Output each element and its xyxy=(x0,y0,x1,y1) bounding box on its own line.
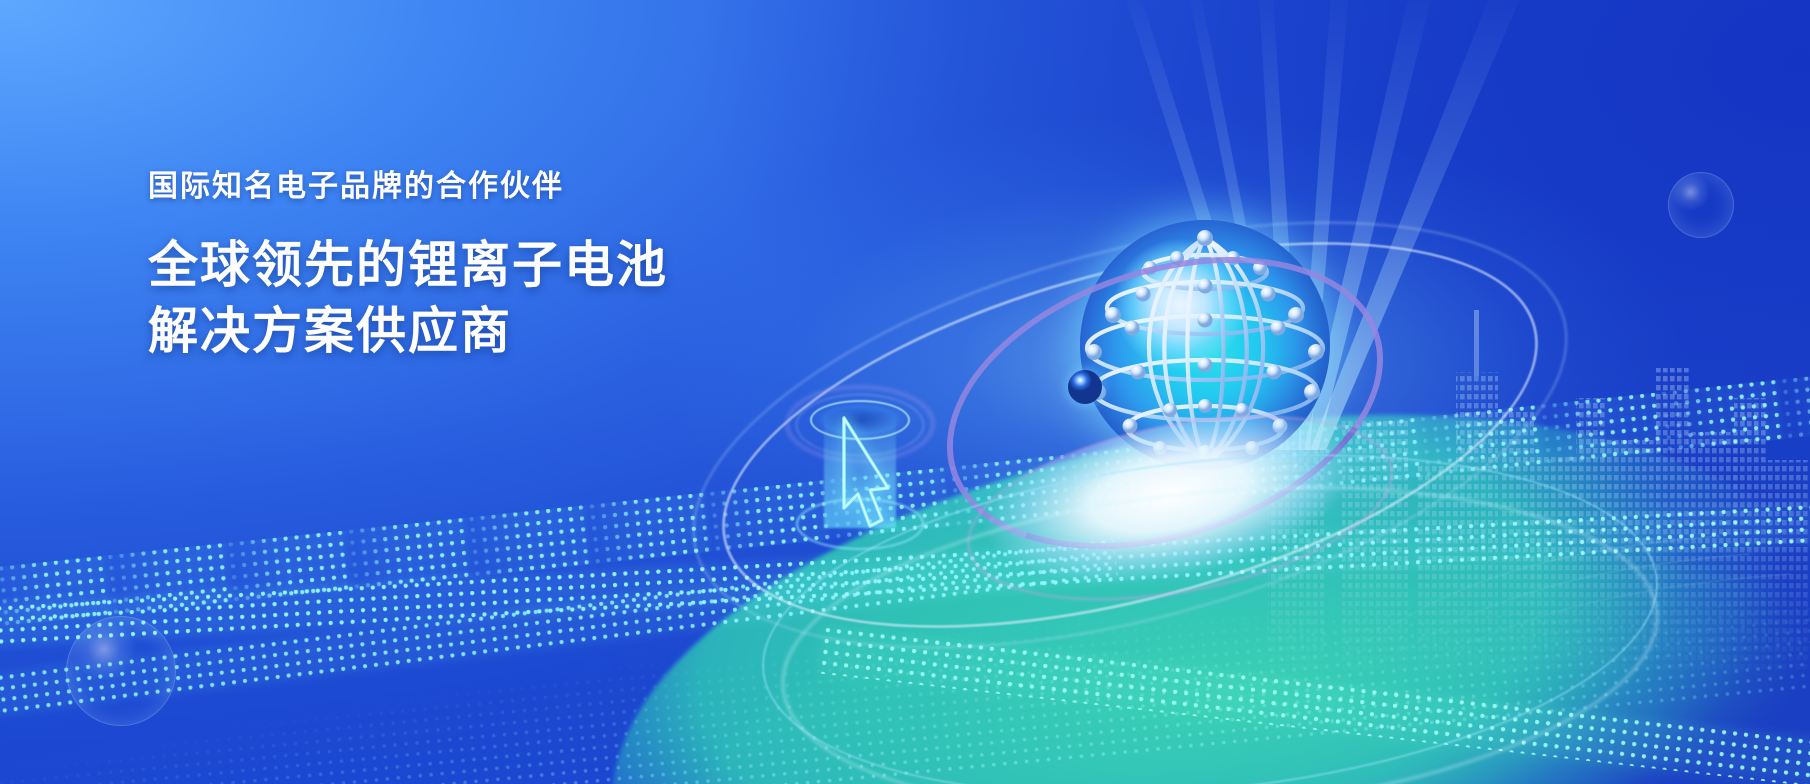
translucent-bubble-bottom-left xyxy=(66,616,176,726)
hero-banner: 国际知名电子品牌的合作伙伴 全球领先的锂离子电池 解决方案供应商 xyxy=(0,0,1810,784)
cursor-arrow-icon xyxy=(818,412,902,540)
hero-eyebrow: 国际知名电子品牌的合作伙伴 xyxy=(148,168,908,206)
translucent-bubble-top-right xyxy=(1668,172,1734,238)
hero-headline: 全球领先的锂离子电池 解决方案供应商 xyxy=(148,232,908,364)
hero-headline-line-2: 解决方案供应商 xyxy=(148,298,908,364)
wireframe-globe xyxy=(1010,210,1490,640)
globe-node-marker xyxy=(1068,370,1102,404)
hero-headline-line-1: 全球领先的锂离子电池 xyxy=(148,232,908,298)
glowing-cursor-beam xyxy=(790,388,930,548)
hero-copy: 国际知名电子品牌的合作伙伴 全球领先的锂离子电池 解决方案供应商 xyxy=(148,168,908,364)
